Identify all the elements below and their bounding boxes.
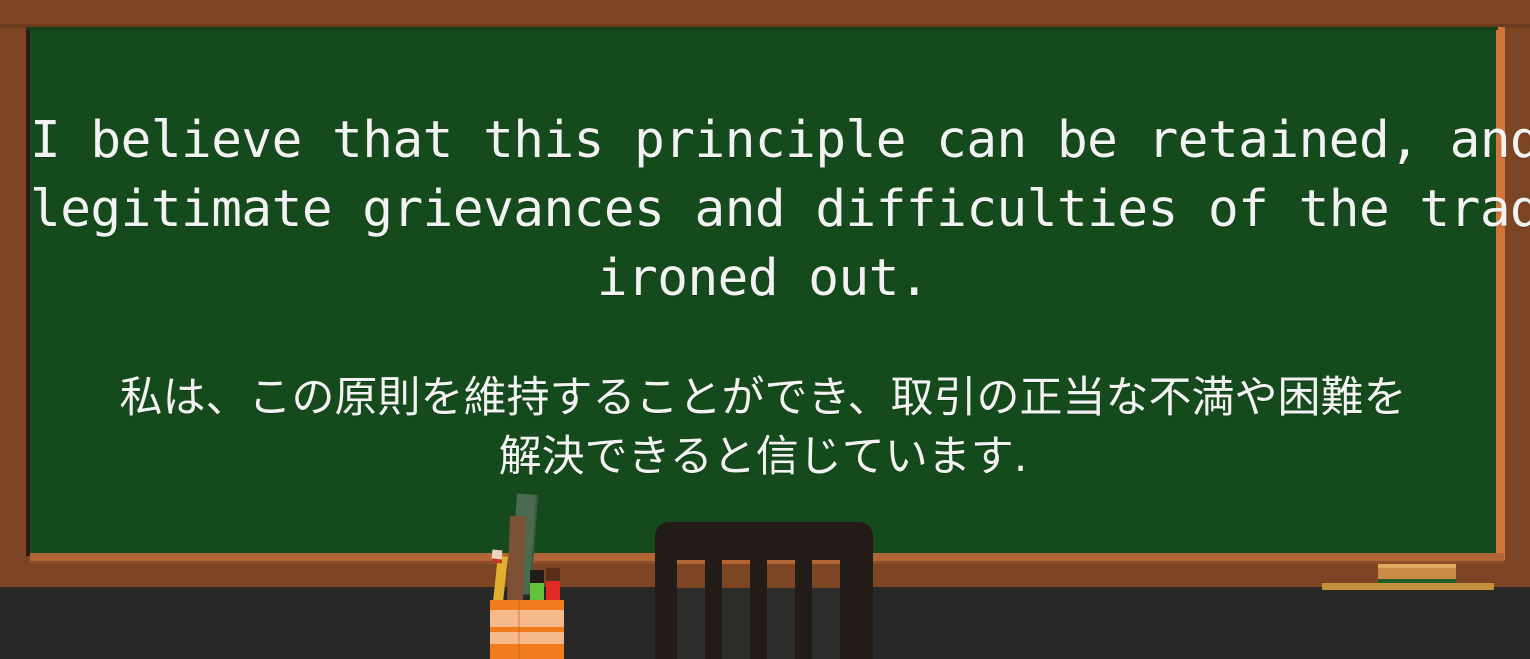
wooden-ruler-icon <box>507 516 526 603</box>
blackboard-scene: I believe that this principle can be ret… <box>0 0 1530 659</box>
pencil-cup-group <box>470 494 590 659</box>
chair-slat-gap <box>722 560 750 588</box>
chalk-tray <box>1322 583 1494 590</box>
english-quote: I believe that this principle can be ret… <box>30 106 1496 313</box>
cup-stripe <box>490 627 564 632</box>
pencil-ferrule <box>492 558 502 563</box>
marker-cap <box>546 568 560 581</box>
chair-slat-lip <box>677 560 705 564</box>
chair-slat-gap <box>767 560 795 588</box>
board-text-block: I believe that this principle can be ret… <box>30 28 1496 488</box>
red-marker-icon <box>546 568 560 602</box>
cup-seam <box>518 600 520 659</box>
eraser-top-highlight <box>1378 564 1456 568</box>
chair-slat-lip <box>722 560 750 564</box>
chair-slat-lip <box>767 560 795 564</box>
marker-cap <box>530 570 544 583</box>
english-line-2: legitimate grievances and difficulties o… <box>30 175 1496 244</box>
chair-slat-gap <box>677 560 705 588</box>
ledge-items-group <box>1310 556 1510 586</box>
chair <box>655 522 873 659</box>
japanese-translation: 私は、この原則を維持することができ、取引の正当な不満や困難を 解決できると信じて… <box>30 369 1496 487</box>
green-marker-icon <box>530 570 544 604</box>
cup-stripe <box>490 600 564 610</box>
marker-body <box>546 581 560 602</box>
japanese-line-1: 私は、この原則を維持することができ、取引の正当な不満や困難を <box>30 369 1496 428</box>
frame-bevel-right <box>1496 27 1505 560</box>
chair-slat-gap <box>812 560 840 588</box>
chair-slat-lip <box>812 560 840 564</box>
english-line-3: ironed out. <box>30 244 1496 313</box>
english-line-1: I believe that this principle can be ret… <box>30 106 1496 175</box>
cup-stripe <box>490 644 564 659</box>
japanese-line-2: 解決できると信じています. <box>30 428 1496 487</box>
